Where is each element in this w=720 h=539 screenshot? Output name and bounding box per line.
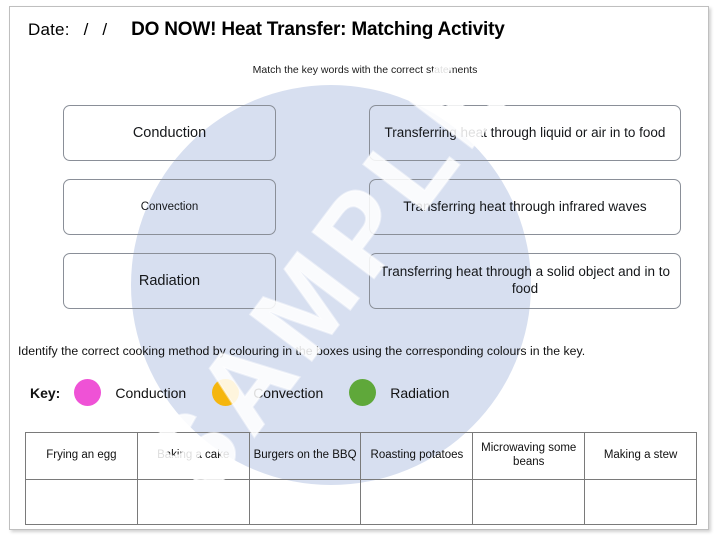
- worksheet-page: Date: / / DO NOW! Heat Transfer: Matchin…: [9, 6, 709, 530]
- activity-subtitle: Match the key words with the correct sta…: [10, 64, 709, 76]
- answer-cell[interactable]: [26, 480, 138, 525]
- answer-cell[interactable]: [249, 480, 361, 525]
- statement-box-3[interactable]: Transferring heat through a solid object…: [369, 253, 681, 309]
- table-header-cell: Burgers on the BBQ: [249, 433, 361, 480]
- key-item-label-convection: Convection: [253, 385, 323, 401]
- key-item-label-conduction: Conduction: [115, 385, 186, 401]
- keyword-box-convection[interactable]: Convection: [63, 179, 276, 235]
- answer-cell[interactable]: [137, 480, 249, 525]
- table-header-row: Frying an egg Baking a cake Burgers on t…: [26, 433, 697, 480]
- table-header-cell: Roasting potatoes: [361, 433, 473, 480]
- table-header-cell: Frying an egg: [26, 433, 138, 480]
- table-header-cell: Making a stew: [585, 433, 697, 480]
- answer-cell[interactable]: [473, 480, 585, 525]
- answer-cell[interactable]: [585, 480, 697, 525]
- keyword-box-radiation[interactable]: Radiation: [63, 253, 276, 309]
- statement-box-2[interactable]: Transferring heat through infrared waves: [369, 179, 681, 235]
- key-item-convection: Convection: [212, 379, 349, 406]
- radiation-colour-swatch-icon: [349, 379, 376, 406]
- header-row: Date: / / DO NOW! Heat Transfer: Matchin…: [10, 19, 709, 41]
- keyword-box-conduction[interactable]: Conduction: [63, 105, 276, 161]
- date-slash-first: /: [84, 20, 89, 40]
- date-label: Date:: [28, 20, 70, 40]
- table-header-cell: Baking a cake: [137, 433, 249, 480]
- cooking-methods-table: Frying an egg Baking a cake Burgers on t…: [25, 432, 697, 525]
- convection-colour-swatch-icon: [212, 379, 239, 406]
- table-header-cell: Microwaving some beans: [473, 433, 585, 480]
- statement-box-1[interactable]: Transferring heat through liquid or air …: [369, 105, 681, 161]
- page-title: DO NOW! Heat Transfer: Matching Activity: [131, 19, 504, 41]
- colouring-instruction: Identify the correct cooking method by c…: [18, 344, 706, 358]
- colour-key: Key: Conduction Convection Radiation: [30, 379, 475, 406]
- table-answer-row: [26, 480, 697, 525]
- date-slash-second: /: [102, 20, 107, 40]
- key-item-radiation: Radiation: [349, 379, 475, 406]
- key-item-conduction: Conduction: [74, 379, 212, 406]
- worksheet-content: Date: / / DO NOW! Heat Transfer: Matchin…: [10, 7, 708, 529]
- answer-cell[interactable]: [361, 480, 473, 525]
- key-item-label-radiation: Radiation: [390, 385, 449, 401]
- key-label: Key:: [30, 385, 60, 401]
- conduction-colour-swatch-icon: [74, 379, 101, 406]
